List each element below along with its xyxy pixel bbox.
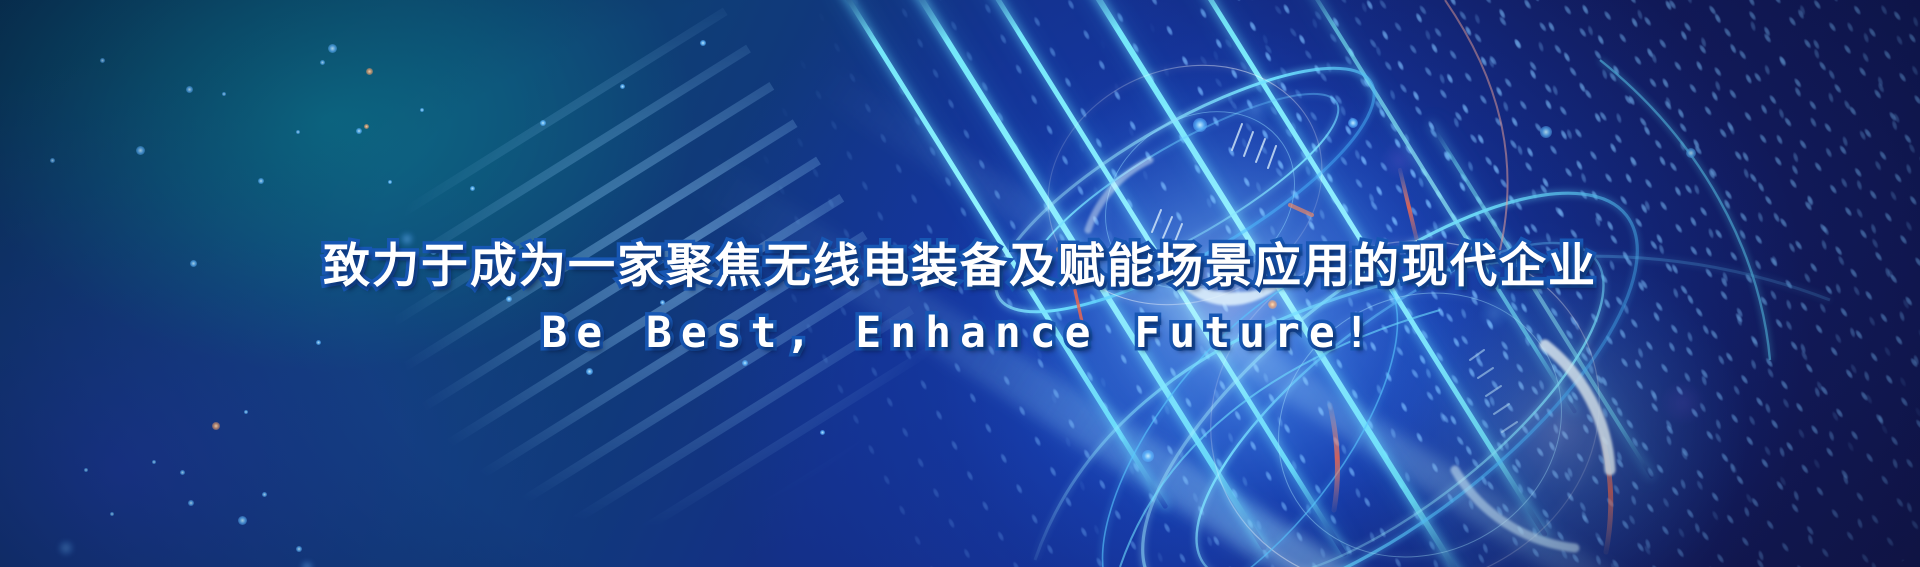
headline-block: 致力于成为一家聚焦无线电装备及赋能场景应用的现代企业 Be Best, Enha… [0, 236, 1920, 364]
headline-english: Be Best, Enhance Future! [0, 303, 1920, 364]
headline-chinese: 致力于成为一家聚焦无线电装备及赋能场景应用的现代企业 [0, 236, 1920, 299]
hero-banner: 致力于成为一家聚焦无线电装备及赋能场景应用的现代企业 Be Best, Enha… [0, 0, 1920, 567]
